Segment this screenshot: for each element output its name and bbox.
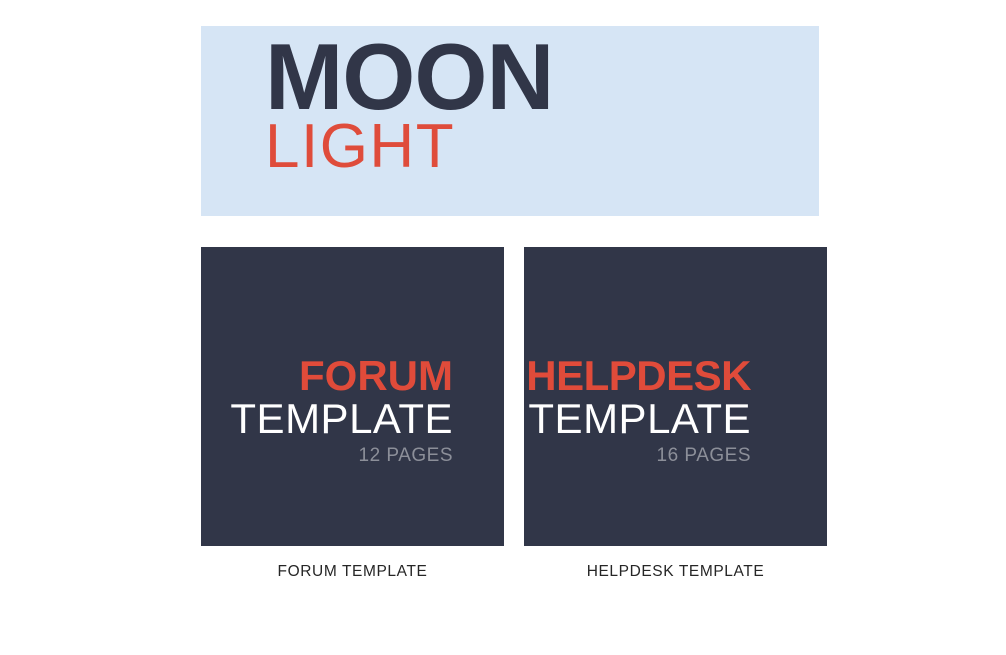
template-card-textblock: HELPDESK TEMPLATE 16 PAGES (526, 355, 751, 470)
template-card-thumbnail-forum[interactable]: FORUM TEMPLATE 12 PAGES (201, 247, 504, 546)
template-title: FORUM (230, 355, 453, 397)
template-caption-helpdesk[interactable]: HELPDESK TEMPLATE (524, 563, 827, 581)
template-title: HELPDESK (526, 355, 751, 397)
template-card-thumbnail-helpdesk[interactable]: HELPDESK TEMPLATE 16 PAGES (524, 247, 827, 546)
template-card-item[interactable]: FORUM TEMPLATE 12 PAGES FORUM TEMPLATE (201, 247, 504, 581)
template-gallery: FORUM TEMPLATE 12 PAGES FORUM TEMPLATE H… (201, 247, 826, 587)
brand-name-moon: MOON (265, 38, 553, 115)
template-subtitle: TEMPLATE (230, 397, 453, 442)
brand-banner: MOON LIGHT (201, 26, 819, 216)
template-card-item[interactable]: HELPDESK TEMPLATE 16 PAGES HELPDESK TEMP… (524, 247, 827, 581)
template-subtitle: TEMPLATE (526, 397, 751, 442)
template-page-count: 12 PAGES (230, 442, 453, 471)
template-caption-forum[interactable]: FORUM TEMPLATE (201, 563, 504, 581)
template-page-count: 16 PAGES (526, 442, 751, 471)
brand-wordmark: MOON LIGHT (265, 38, 553, 178)
template-card-textblock: FORUM TEMPLATE 12 PAGES (230, 355, 453, 470)
